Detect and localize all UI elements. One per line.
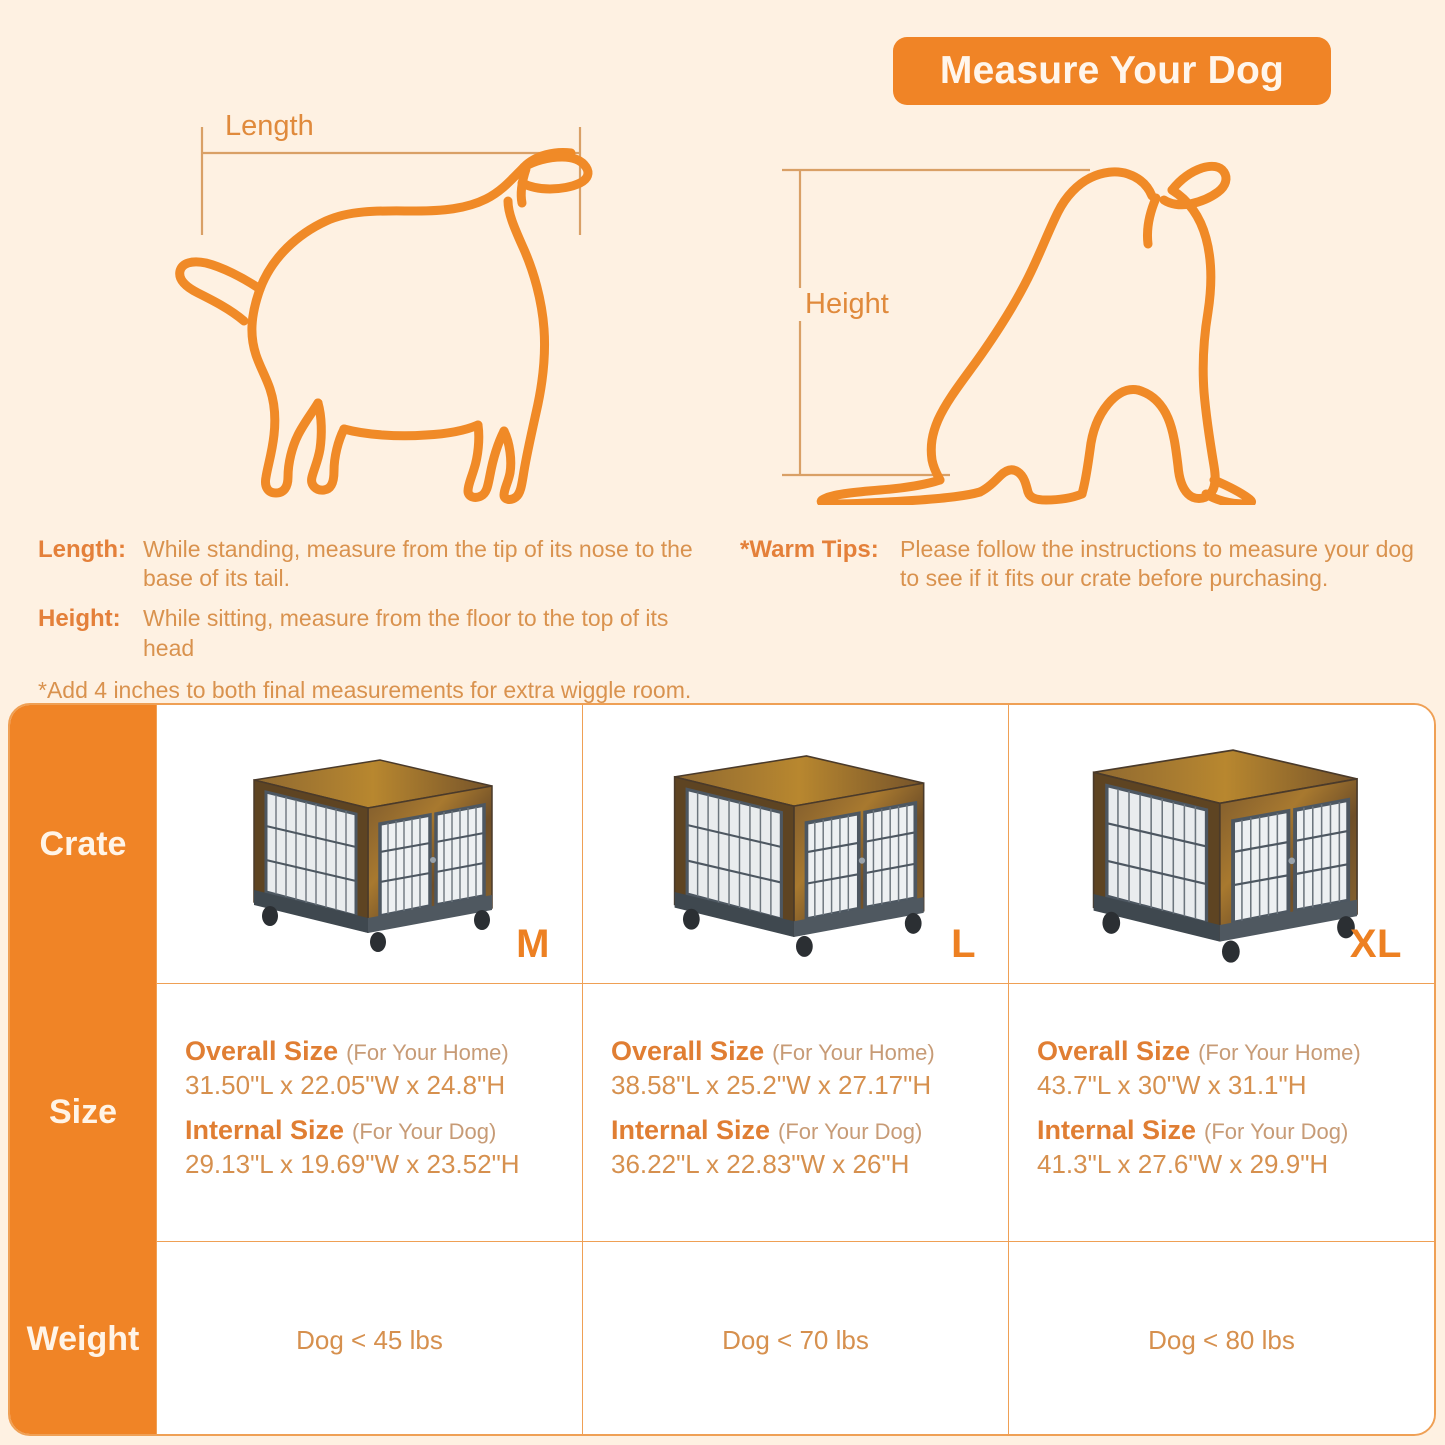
overall-size-label: Overall Size xyxy=(185,1036,338,1066)
internal-size-dims-m: 29.13"L x 19.69"W x 23.52"H xyxy=(185,1149,582,1180)
overall-size-heading-m: Overall Size(For Your Home) xyxy=(185,1036,582,1067)
internal-size-dims-l: 36.22"L x 22.83"W x 26"H xyxy=(611,1149,1008,1180)
height-instruction-row: Height: While sitting, measure from the … xyxy=(38,604,698,662)
warm-tips-term: *Warm Tips: xyxy=(740,535,900,565)
height-measure-label: Height xyxy=(795,288,899,321)
internal-size-note: (For Your Dog) xyxy=(352,1119,496,1144)
size-badge-l: L xyxy=(951,922,976,967)
internal-size-heading-m: Internal Size(For Your Dog) xyxy=(185,1115,582,1146)
warm-tips-description: Please follow the instructions to measur… xyxy=(900,535,1430,593)
internal-size-label: Internal Size xyxy=(185,1115,344,1145)
length-measure-label: Length xyxy=(215,110,324,143)
warm-tips-block: *Warm Tips: Please follow the instructio… xyxy=(740,535,1430,604)
standing-dog-outline-icon xyxy=(130,105,690,505)
size-badge-xl: XL xyxy=(1350,922,1402,967)
dog-crate-furniture-icon xyxy=(646,735,946,960)
weight-value-l: Dog < 70 lbs xyxy=(722,1325,869,1356)
sitting-dog-outline-icon xyxy=(760,150,1320,505)
row-label-weight: Weight xyxy=(10,1241,156,1436)
internal-size-label: Internal Size xyxy=(611,1115,770,1145)
overall-size-note: (For Your Home) xyxy=(772,1040,935,1065)
crate-cell-m: M xyxy=(156,705,582,983)
internal-size-note: (For Your Dog) xyxy=(778,1119,922,1144)
description-area: Length: While standing, measure from the… xyxy=(0,530,1445,695)
overall-size-heading-xl: Overall Size(For Your Home) xyxy=(1037,1036,1434,1067)
dog-crate-furniture-icon xyxy=(230,740,510,955)
internal-size-heading-l: Internal Size(For Your Dog) xyxy=(611,1115,1008,1146)
size-cell-m: Overall Size(For Your Home) 31.50"L x 22… xyxy=(156,983,582,1241)
sitting-dog-panel xyxy=(760,150,1320,505)
weight-value-m: Dog < 45 lbs xyxy=(296,1325,443,1356)
overall-size-dims-l: 38.58"L x 25.2"W x 27.17"H xyxy=(611,1070,1008,1101)
size-badge-m: M xyxy=(516,922,550,967)
length-description: While standing, measure from the tip of … xyxy=(143,535,698,593)
internal-size-note: (For Your Dog) xyxy=(1204,1119,1348,1144)
length-instruction-row: Length: While standing, measure from the… xyxy=(38,535,698,593)
internal-size-label: Internal Size xyxy=(1037,1115,1196,1145)
size-cell-l: Overall Size(For Your Home) 38.58"L x 25… xyxy=(582,983,1008,1241)
wiggle-room-note: *Add 4 inches to both final measurements… xyxy=(38,676,698,705)
crate-cell-l: L xyxy=(582,705,1008,983)
dog-crate-furniture-icon xyxy=(1062,728,1382,966)
height-description: While sitting, measure from the floor to… xyxy=(143,604,698,662)
size-cell-xl: Overall Size(For Your Home) 43.7"L x 30"… xyxy=(1008,983,1434,1241)
internal-size-heading-xl: Internal Size(For Your Dog) xyxy=(1037,1115,1434,1146)
height-term: Height: xyxy=(38,604,143,634)
standing-dog-panel xyxy=(130,105,690,505)
overall-size-heading-l: Overall Size(For Your Home) xyxy=(611,1036,1008,1067)
weight-cell-l: Dog < 70 lbs xyxy=(582,1241,1008,1436)
overall-size-label: Overall Size xyxy=(611,1036,764,1066)
overall-size-note: (For Your Home) xyxy=(1198,1040,1361,1065)
length-term: Length: xyxy=(38,535,143,565)
row-label-size: Size xyxy=(10,983,156,1241)
overall-size-dims-m: 31.50"L x 22.05"W x 24.8"H xyxy=(185,1070,582,1101)
crate-cell-xl: XL xyxy=(1008,705,1434,983)
overall-size-label: Overall Size xyxy=(1037,1036,1190,1066)
overall-size-dims-xl: 43.7"L x 30"W x 31.1"H xyxy=(1037,1070,1434,1101)
weight-cell-xl: Dog < 80 lbs xyxy=(1008,1241,1434,1436)
weight-cell-m: Dog < 45 lbs xyxy=(156,1241,582,1436)
size-comparison-table: Crate xyxy=(8,703,1436,1436)
internal-size-dims-xl: 41.3"L x 27.6"W x 29.9"H xyxy=(1037,1149,1434,1180)
warm-tips-row: *Warm Tips: Please follow the instructio… xyxy=(740,535,1430,593)
measurement-instructions: Length: While standing, measure from the… xyxy=(38,535,698,705)
overall-size-note: (For Your Home) xyxy=(346,1040,509,1065)
illustration-area: Length xyxy=(0,0,1445,520)
row-label-crate: Crate xyxy=(10,705,156,983)
weight-value-xl: Dog < 80 lbs xyxy=(1148,1325,1295,1356)
